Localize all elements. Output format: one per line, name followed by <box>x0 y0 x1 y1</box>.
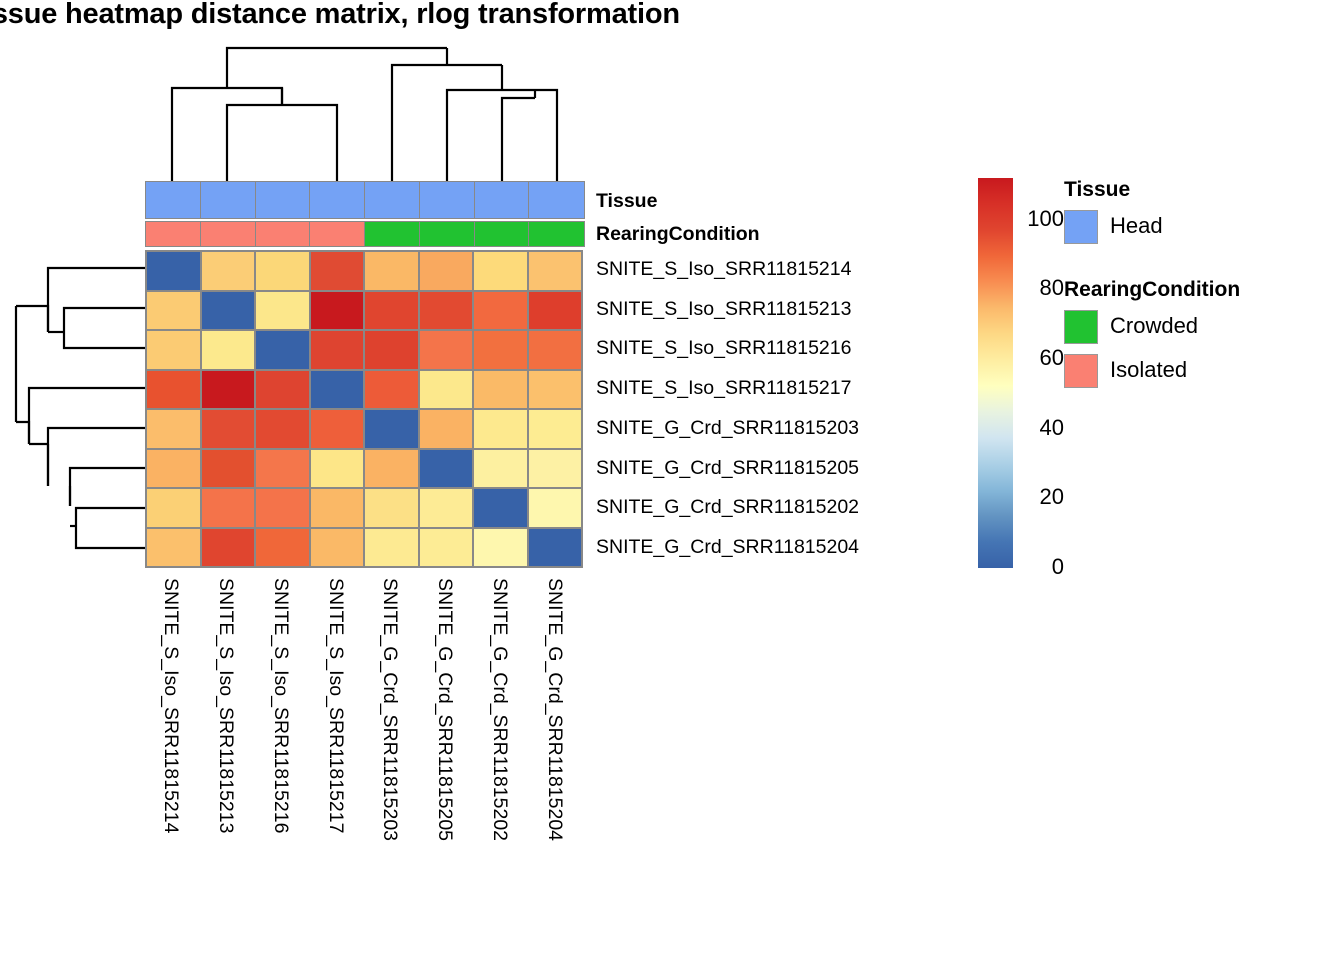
heatmap-cell <box>256 489 309 527</box>
column-dendrogram-lines <box>0 0 1344 200</box>
heatmap-cell <box>147 529 200 567</box>
heatmap-cell <box>311 489 364 527</box>
heatmap-cell <box>256 292 309 330</box>
heatmap-cell <box>365 450 418 488</box>
colorbar-tick-label: 0 <box>1018 554 1064 580</box>
row-label: SNITE_S_Iso_SRR11815217 <box>596 379 851 399</box>
heatmap-cell <box>202 331 255 369</box>
heatmap-cell <box>529 331 582 369</box>
heatmap-cell <box>202 292 255 330</box>
colorbar-tick-label: 100 <box>1018 206 1064 232</box>
tissue-annotation-cell <box>309 181 365 219</box>
rearing-condition-annotation-cell <box>255 221 311 247</box>
heatmap-cell <box>529 410 582 448</box>
heatmap-cell <box>202 371 255 409</box>
row-label: SNITE_G_Crd_SRR11815203 <box>596 419 859 439</box>
heatmap-matrix <box>145 250 583 568</box>
heatmap-cell <box>365 529 418 567</box>
tissue-annotation-cell <box>364 181 420 219</box>
heatmap-cell <box>202 529 255 567</box>
tissue-annotation-bar <box>145 181 583 219</box>
colorbar-tick-label: 60 <box>1018 345 1064 371</box>
heatmap-cell <box>365 292 418 330</box>
heatmap-cell <box>420 292 473 330</box>
heatmap-cell <box>147 331 200 369</box>
heatmap-cell <box>474 529 527 567</box>
heatmap-cell <box>256 410 309 448</box>
column-label: SNITE_S_Iso_SRR11815217 <box>325 578 345 833</box>
tissue-annotation-label: Tissue <box>596 190 657 213</box>
heatmap-cell <box>365 489 418 527</box>
rearing-condition-annotation-cell <box>364 221 420 247</box>
rearing-condition-annotation-cell <box>528 221 584 247</box>
heatmap-cell <box>529 292 582 330</box>
rearing-condition-annotation-label: RearingCondition <box>596 223 760 246</box>
heatmap-cell <box>256 450 309 488</box>
colorbar-gradient <box>978 178 1013 568</box>
heatmap-cell <box>474 450 527 488</box>
heatmap-cell <box>529 489 582 527</box>
heatmap-cell <box>147 292 200 330</box>
rearing-condition-annotation-cell <box>200 221 256 247</box>
heatmap-cell <box>365 331 418 369</box>
legend-swatch <box>1064 354 1098 388</box>
heatmap-cell <box>311 410 364 448</box>
heatmap-cell <box>256 331 309 369</box>
colorbar-tick-label: 20 <box>1018 484 1064 510</box>
heatmap-cell <box>311 292 364 330</box>
legend-label: Head <box>1110 213 1163 239</box>
heatmap-cell <box>147 252 200 290</box>
rearing-condition-annotation-bar <box>145 221 583 247</box>
heatmap-cell <box>202 450 255 488</box>
row-label: SNITE_S_Iso_SRR11815213 <box>596 300 851 320</box>
colorbar-tick-label: 80 <box>1018 275 1064 301</box>
heatmap-cell <box>474 489 527 527</box>
heatmap-cell <box>256 252 309 290</box>
heatmap-cell <box>529 371 582 409</box>
heatmap-cell <box>256 371 309 409</box>
heatmap-cell <box>420 410 473 448</box>
tissue-annotation-cell <box>419 181 475 219</box>
heatmap-cell <box>147 489 200 527</box>
heatmap-cell <box>420 252 473 290</box>
heatmap-cell <box>311 252 364 290</box>
heatmap-cell <box>256 529 309 567</box>
rearing-condition-annotation-cell <box>309 221 365 247</box>
heatmap-figure: issue heatmap distance matrix, rlog tran… <box>0 0 1344 960</box>
column-label: SNITE_G_Crd_SRR11815204 <box>544 578 564 841</box>
heatmap-cell <box>529 450 582 488</box>
heatmap-cell <box>474 331 527 369</box>
column-label: SNITE_G_Crd_SRR11815205 <box>435 578 455 841</box>
legend-swatch <box>1064 310 1098 344</box>
legend-swatch <box>1064 210 1098 244</box>
row-label: SNITE_G_Crd_SRR11815205 <box>596 459 859 479</box>
column-label: SNITE_G_Crd_SRR11815202 <box>489 578 509 841</box>
heatmap-cell <box>420 529 473 567</box>
tissue-annotation-cell <box>255 181 311 219</box>
heatmap-cell <box>311 529 364 567</box>
rearing-condition-annotation-cell <box>145 221 201 247</box>
tissue-annotation-cell <box>528 181 584 219</box>
heatmap-cell <box>474 371 527 409</box>
row-label: SNITE_S_Iso_SRR11815216 <box>596 339 851 359</box>
row-label: SNITE_G_Crd_SRR11815202 <box>596 498 859 518</box>
rearing-condition-annotation-cell <box>474 221 530 247</box>
heatmap-cell <box>420 371 473 409</box>
heatmap-cell <box>147 450 200 488</box>
tissue-annotation-cell <box>474 181 530 219</box>
legend-title: RearingCondition <box>1064 278 1240 302</box>
legend-label: Crowded <box>1110 313 1198 339</box>
colorbar-tick-label: 40 <box>1018 415 1064 441</box>
rearing-condition-annotation-cell <box>419 221 475 247</box>
row-label: SNITE_S_Iso_SRR11815214 <box>596 260 851 280</box>
heatmap-cell <box>365 371 418 409</box>
heatmap-cell <box>147 410 200 448</box>
heatmap-cell <box>311 450 364 488</box>
heatmap-cell <box>529 252 582 290</box>
heatmap-cell <box>420 331 473 369</box>
heatmap-cell <box>311 331 364 369</box>
heatmap-cell <box>365 252 418 290</box>
heatmap-cell <box>202 489 255 527</box>
heatmap-cell <box>474 252 527 290</box>
column-label: SNITE_G_Crd_SRR11815203 <box>380 578 400 841</box>
heatmap-cell <box>529 529 582 567</box>
legend-title: Tissue <box>1064 178 1130 202</box>
heatmap-cell <box>147 371 200 409</box>
row-label: SNITE_G_Crd_SRR11815204 <box>596 538 859 558</box>
heatmap-cell <box>202 410 255 448</box>
tissue-annotation-cell <box>145 181 201 219</box>
heatmap-cell <box>311 371 364 409</box>
heatmap-cell <box>474 410 527 448</box>
heatmap-cell <box>420 450 473 488</box>
heatmap-cell <box>365 410 418 448</box>
heatmap-cell <box>474 292 527 330</box>
column-label: SNITE_S_Iso_SRR11815213 <box>216 578 236 833</box>
legend-label: Isolated <box>1110 357 1187 383</box>
tissue-annotation-cell <box>200 181 256 219</box>
column-label: SNITE_S_Iso_SRR11815214 <box>161 578 181 833</box>
column-label: SNITE_S_Iso_SRR11815216 <box>270 578 290 833</box>
row-dendrogram <box>0 248 150 570</box>
heatmap-cell <box>202 252 255 290</box>
heatmap-cell <box>420 489 473 527</box>
